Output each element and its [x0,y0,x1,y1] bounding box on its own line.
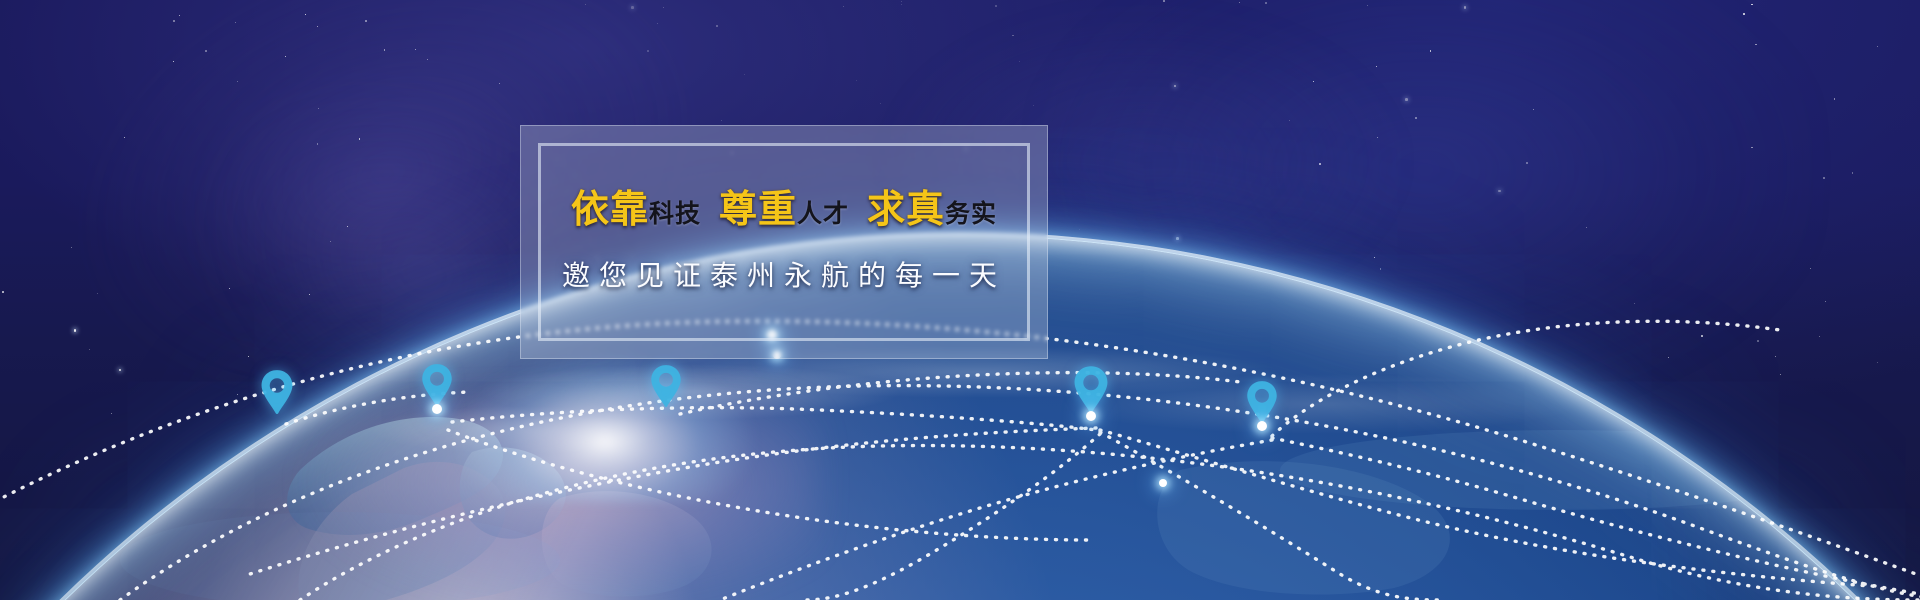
node-lower-right [1159,479,1167,487]
slogan-segment-2: 尊重 [719,186,797,231]
slogan-segment-3: 人才 [797,199,849,228]
slogan-panel-content: 依靠科技尊重人才求真务实 邀您见证泰州永航的每一天 [521,126,1047,358]
slogan-segment-0: 依靠 [571,186,649,231]
slogan-line-primary: 依靠科技尊重人才求真务实 [571,190,997,228]
slogan-segment-4: 求真 [867,186,945,231]
slogan-segment-1: 科技 [649,199,701,228]
pin-far-east-node [1257,421,1267,431]
slogan-line-secondary: 邀您见证泰州永航的每一天 [562,254,1006,294]
slogan-segment-5: 务实 [945,199,997,228]
slogan-panel: 依靠科技尊重人才求真务实 邀您见证泰州永航的每一天 [520,125,1048,359]
pin-east-hub-node [1086,411,1096,421]
pin-north-africa-node [432,404,442,414]
hero-banner: 依靠科技尊重人才求真务实 邀您见证泰州永航的每一天 [0,0,1920,600]
